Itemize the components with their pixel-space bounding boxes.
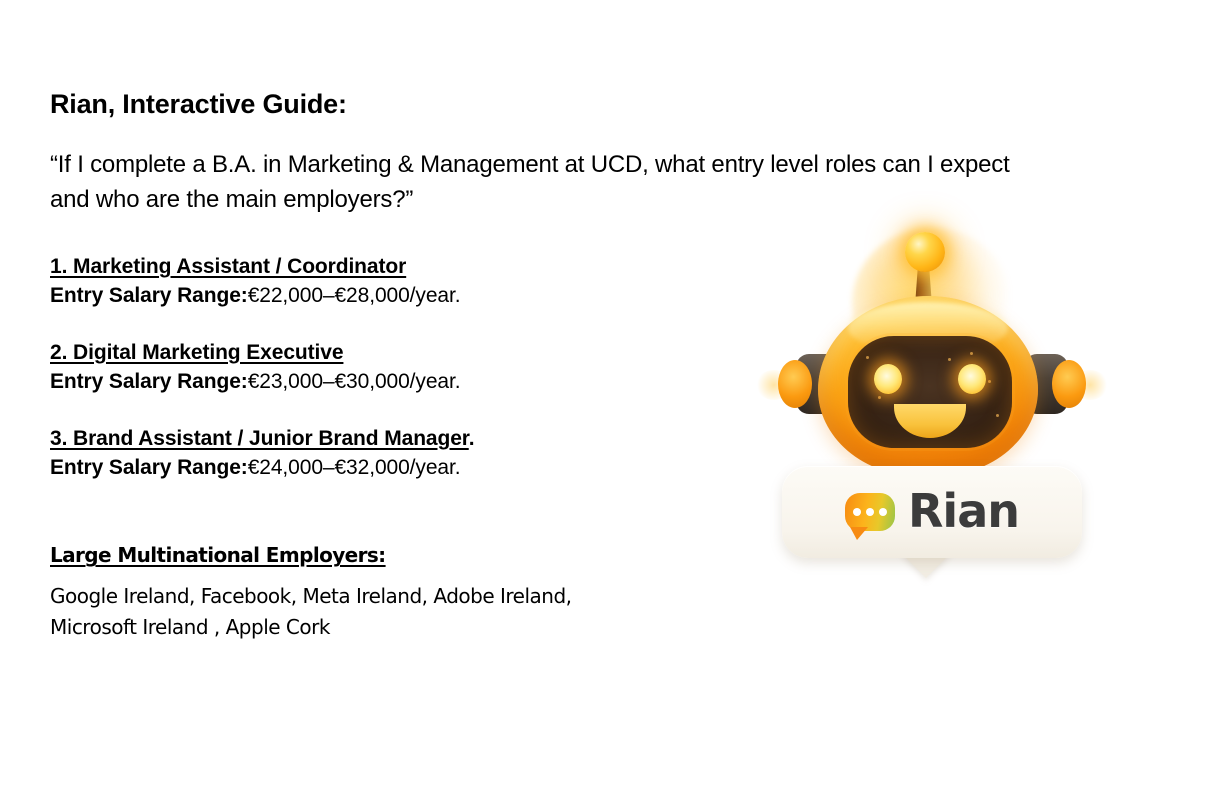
- robot-eye-left-icon: [874, 364, 902, 394]
- salary-line-3: Entry Salary Range:€24,000–€32,000/year.: [50, 453, 750, 483]
- salary-line-2: Entry Salary Range:€23,000–€30,000/year.: [50, 367, 750, 397]
- ear-right-cap-icon: [1052, 360, 1086, 408]
- role-title-3: 3. Brand Assistant / Junior Brand Manage…: [50, 427, 469, 450]
- chat-dot-icon: [853, 508, 861, 516]
- face-speck-icon: [948, 358, 951, 361]
- salary-value-1: €22,000–€28,000/year.: [248, 284, 461, 307]
- role-heading-1: 1. Marketing Assistant / Coordinator: [50, 252, 750, 281]
- role-heading-3: 3. Brand Assistant / Junior Brand Manage…: [50, 424, 750, 453]
- employers-list: Google Ireland, Facebook, Meta Ireland, …: [50, 581, 630, 643]
- role-title-1: 1. Marketing Assistant / Coordinator: [50, 255, 406, 278]
- salary-line-1: Entry Salary Range:€22,000–€28,000/year.: [50, 281, 750, 311]
- robot-face-screen-icon: [848, 336, 1012, 448]
- ear-left-cap-icon: [778, 360, 812, 408]
- salary-label-2: Entry Salary Range:: [50, 370, 248, 393]
- mascot-name-label: Rian: [908, 488, 1019, 537]
- robot-mascot-icon: Rian: [762, 218, 1102, 598]
- face-speck-icon: [970, 352, 973, 355]
- chat-bubble-icon: [845, 493, 895, 531]
- role-item-1: 1. Marketing Assistant / Coordinator Ent…: [50, 252, 750, 312]
- page-title: Rian, Interactive Guide:: [50, 88, 750, 120]
- chat-dot-icon: [879, 508, 887, 516]
- robot-smile-icon: [894, 404, 966, 438]
- salary-value-3: €24,000–€32,000/year.: [248, 456, 461, 479]
- salary-label-1: Entry Salary Range:: [50, 284, 248, 307]
- guide-content: Rian, Interactive Guide: “If I complete …: [50, 88, 750, 643]
- role-heading-2: 2. Digital Marketing Executive: [50, 338, 750, 367]
- speech-bubble-content: Rian: [782, 466, 1082, 558]
- robot-eye-right-icon: [958, 364, 986, 394]
- face-speck-icon: [996, 414, 999, 417]
- employers-heading: Large Multinational Employers:: [50, 543, 386, 567]
- role-title-2: 2. Digital Marketing Executive: [50, 341, 343, 364]
- role-item-3: 3. Brand Assistant / Junior Brand Manage…: [50, 424, 750, 484]
- face-speck-icon: [988, 380, 991, 383]
- face-speck-icon: [866, 356, 869, 359]
- antenna-ball-icon: [905, 232, 945, 272]
- face-speck-icon: [878, 396, 881, 399]
- role-item-2: 2. Digital Marketing Executive Entry Sal…: [50, 338, 750, 398]
- salary-value-2: €23,000–€30,000/year.: [248, 370, 461, 393]
- chat-dot-icon: [866, 508, 874, 516]
- user-question: “If I complete a B.A. in Marketing & Man…: [50, 148, 1015, 218]
- role-title-suffix-3: .: [469, 427, 475, 450]
- employers-section: Large Multinational Employers: Google Ir…: [50, 509, 750, 643]
- salary-label-3: Entry Salary Range:: [50, 456, 248, 479]
